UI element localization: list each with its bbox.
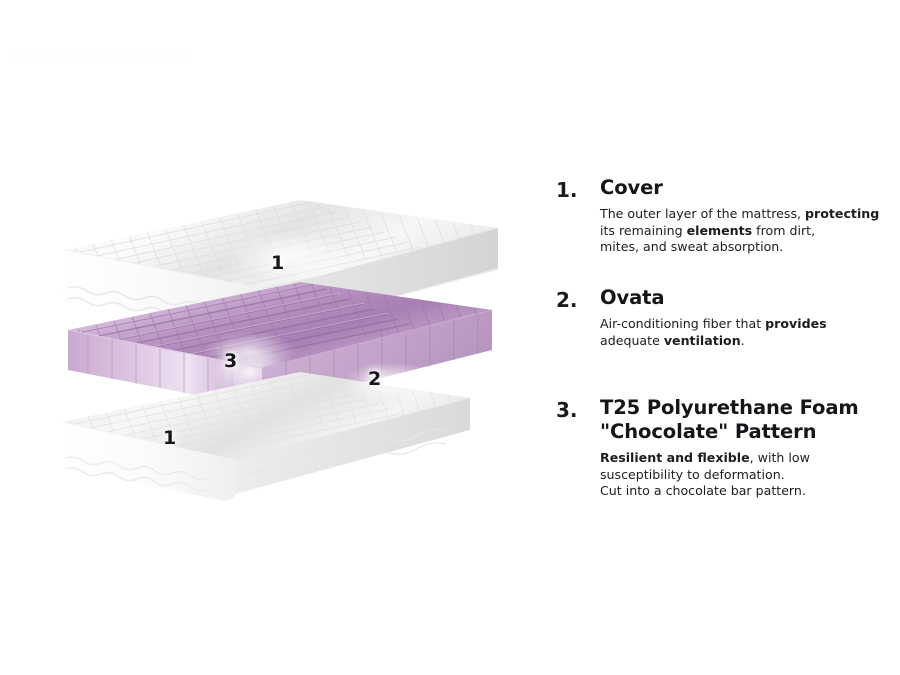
legend-title-ovata: Ovata — [600, 286, 892, 310]
legend-entry-cover: 1. Cover The outer layer of the mattress… — [556, 176, 892, 256]
legend-number-3: 3. — [556, 398, 592, 422]
diagram-label-ovata: 2 — [368, 368, 381, 390]
legend-desc-cover: The outer layer of the mattress, protect… — [600, 206, 892, 256]
legend-number-1: 1. — [556, 178, 592, 202]
diagram-label-foam: 3 — [224, 350, 237, 372]
legend-body-3: T25 Polyurethane Foam"Chocolate" Pattern… — [600, 396, 892, 500]
page-root: meblobranie sklep meblowy online — [0, 0, 900, 675]
legend-number-2: 2. — [556, 288, 592, 312]
legend-desc-ovata: Air-conditioning fiber that providesadeq… — [600, 316, 892, 349]
legend-entry-foam: 3. T25 Polyurethane Foam"Chocolate" Patt… — [556, 396, 892, 500]
legend-body-2: Ovata Air-conditioning fiber that provid… — [600, 286, 892, 349]
mattress-diagram: 1 3 2 1 — [0, 0, 545, 675]
diagram-label-cover-top: 1 — [271, 252, 284, 274]
legend-desc-foam: Resilient and flexible, with lowsuscepti… — [600, 450, 892, 500]
layer-cover-bottom — [58, 362, 470, 501]
legend-body-1: Cover The outer layer of the mattress, p… — [600, 176, 892, 256]
legend-title-cover: Cover — [600, 176, 892, 200]
legend-title-foam: T25 Polyurethane Foam"Chocolate" Pattern — [600, 396, 892, 444]
diagram-label-cover-bottom: 1 — [163, 427, 176, 449]
legend-entry-ovata: 2. Ovata Air-conditioning fiber that pro… — [556, 286, 892, 349]
